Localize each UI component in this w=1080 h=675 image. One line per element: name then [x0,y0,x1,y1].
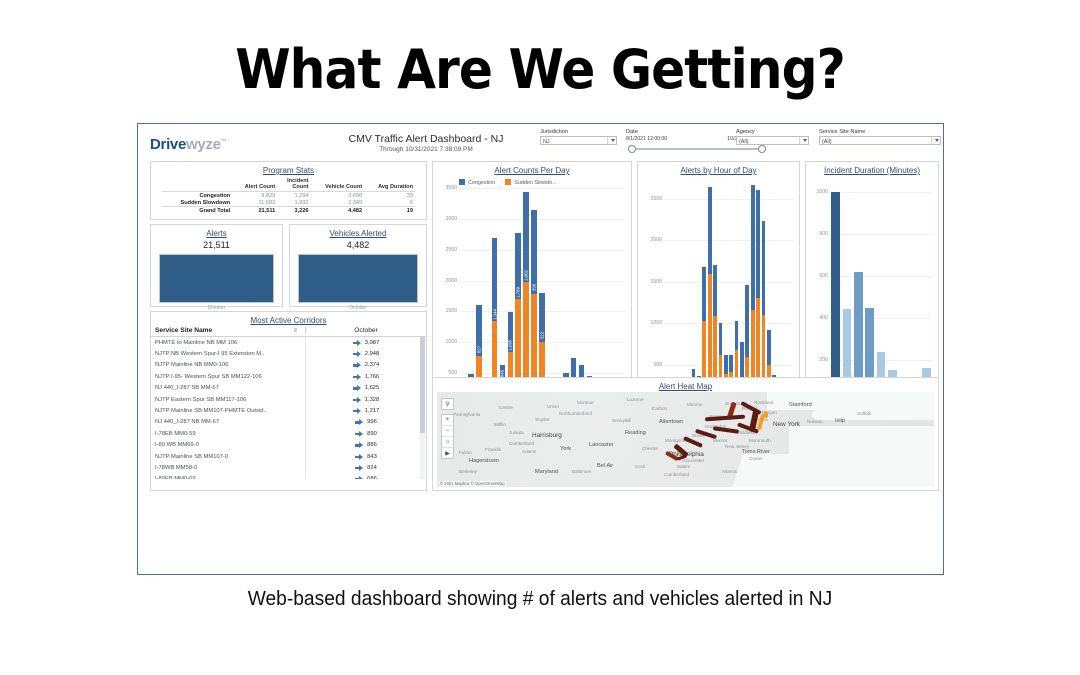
corridor-value-text: 2,948 [365,351,380,357]
filter-jurisdiction[interactable]: Jurisdiction NJ [540,129,617,145]
map-search-control[interactable]: ⚲ [441,398,454,410]
corridors-header: Service Site Name ≡ October [151,325,426,337]
corridor-value-text: 686 [367,476,377,479]
alerts-kpi-title: Alerts [151,225,282,238]
table-row: Sudden Slowdown 11,682 1,932 3,349 6 [162,199,415,207]
arrow-right-icon [353,385,362,391]
list-item[interactable]: NJ 440_I-287 NB MM-67996 [151,417,426,428]
y-axis-tick: 800 [819,231,828,237]
corridor-value: 686 [305,474,426,479]
bar-label: 396 [532,283,537,290]
map-label: Juniata [509,430,524,435]
bar-segment-congestion [531,210,537,294]
table-row: Congestion 9,829 1,294 3,690 33 [162,192,415,200]
duration-chart-title: Incident Duration (Minutes) [806,162,938,175]
bar-group[interactable] [788,182,793,406]
map-label: Cecil [635,464,645,469]
row-congestion-alert: 9,829 [232,192,277,200]
map-water-sound [812,410,934,420]
slider-knob-left[interactable] [628,145,636,153]
bar-label: 1,344 [492,309,497,320]
bar-segment-congestion [523,192,529,282]
corridors-title: Most Active Corridors [151,312,426,325]
panel-vehicles-kpi: Vehicles Alerted 4,482 October [289,224,427,307]
legend-congestion: Congestion [459,179,495,186]
bar-label: 845 [500,370,505,377]
chevron-down-icon [935,139,939,142]
map-label: Monroe [687,402,703,407]
dashboard-inner: Drivewyze™ CMV Traffic Alert Dashboard -… [141,127,940,571]
map-zoom-controls[interactable]: + − ⌂ ▶ [441,414,454,459]
arrow-right-icon [355,465,364,471]
map-canvas[interactable]: PennsylvaniaCentreUnionMontourNorthumber… [437,392,934,487]
list-item[interactable]: NJ 440_I-287 SB MM-671,625 [151,383,426,394]
bar-group[interactable] [830,182,841,402]
daily-chart-legend: Congestion Sudden Slowdo... [459,179,557,186]
logo-drive: Drive [150,136,186,153]
bar-group[interactable]: 1,344647 [491,188,499,404]
slider-track [631,148,763,150]
bar-group[interactable] [617,188,625,404]
search-icon[interactable]: ⚲ [442,399,453,409]
vehicles-kpi-bar[interactable] [298,254,418,303]
list-item[interactable]: I-78EB MM0-59890 [151,428,426,439]
bar-segment-congestion [756,190,760,298]
corridors-col-name[interactable]: Service Site Name ≡ [151,327,305,334]
slide: What Are We Getting? Drivewyze™ CMV Traf… [0,0,1080,675]
map-label: Maryland [535,469,558,475]
corridor-value: 1,217 [305,405,426,416]
map-label: Allentown [659,419,683,425]
bar-group[interactable]: 1,6981,458 [506,188,514,404]
bar-group[interactable] [562,188,570,404]
map-attribution: © 2021 Mapbox © OpenStreetMap [439,481,506,486]
bar-group[interactable] [459,188,467,404]
map-label: Adams [522,449,536,454]
filter-agency-label: Agency [736,129,809,135]
map-label: Nassau [807,419,823,424]
bar-group[interactable]: 354 [467,188,475,404]
row-congestion-duration: 33 [364,192,415,200]
list-item[interactable]: I-78WB MM58-0824 [151,462,426,473]
alerts-kpi-bar[interactable] [159,254,274,303]
map-label: Centre [499,405,513,410]
bar-label: 1,789 [516,287,521,298]
col-blank [162,178,232,192]
row-total-vehicle: 4,482 [311,207,365,215]
corridor-value: 2,948 [305,348,426,359]
filter-agency-select[interactable]: (All) [736,136,809,145]
scrollbar-thumb[interactable] [420,337,425,433]
bars: 3548271,3531,3446478451,0801,6981,4581,7… [459,188,625,404]
bar-group[interactable] [875,182,886,402]
map-label: Harrisburg [532,432,562,439]
map-label: Cumberland [664,472,689,477]
corridor-value-text: 886 [367,442,377,448]
bar-group[interactable] [483,188,491,404]
corridors-scrollbar[interactable] [420,337,425,479]
plot-area: 3548271,3531,3446478451,0801,6981,4581,7… [459,188,625,404]
bar-group[interactable] [586,188,594,404]
corridor-value-text: 3,087 [365,340,380,346]
bar-group[interactable] [909,182,920,402]
corridor-value-text: 996 [367,419,377,425]
hour-chart-title: Alerts by Hour of Day [638,162,799,175]
corridor-value: 2,374 [305,360,426,371]
filter-date-start: 8/1/2021 12:00:00 [626,136,667,143]
map-label: Berkeley [459,469,477,474]
corridor-name: NJTP Mainline SB MM107-0 [151,454,305,460]
bar-group[interactable] [864,182,875,402]
map-label: Gloucester [682,458,704,463]
corridor-value-text: 2,374 [365,362,380,368]
corridor-value-text: 843 [367,454,377,460]
map-label: Ocean [749,456,763,461]
map-label: Lancaster [589,442,614,448]
bar-group[interactable]: 1,002352 [522,188,530,404]
daily-chart-title: Alert Counts Per Day [433,162,631,175]
bar-group[interactable] [554,188,562,404]
map-label: Reading [625,430,646,436]
map-label: Toms River [742,449,770,455]
corridors-rows: PHMTE to Mainline NB MM 1063,087NJTP NB … [151,337,426,479]
filter-site-select[interactable]: (All) [819,136,941,145]
col-avg-duration: Avg Duration [364,178,415,192]
row-slowdown-name: Sudden Slowdown [162,199,232,207]
slider-knob-right[interactable] [758,145,766,153]
map-label: Suffolk [857,411,871,416]
map-label: New York [773,421,800,428]
corridor-value-text: 1,625 [365,385,380,391]
map-water-shore [731,454,803,487]
bar-group[interactable] [609,188,617,404]
map-label: Monmouth [749,438,771,443]
panel-alert-heat-map: Alert Heat Map PennsylvaniaCentreUnionMo… [432,377,939,491]
map-label: Schuylkill [612,418,631,423]
legend-label-congestion: Congestion [468,180,495,186]
bars [830,182,932,402]
corridor-value: 890 [305,428,426,439]
y-axis-tick: 200 [819,357,828,363]
y-axis-tick: 2500 [650,196,662,202]
arrow-right-icon [353,351,362,357]
table-header-row: Alert Count Incident Count Vehicle Count… [162,178,415,192]
row-congestion-vehicle: 3,690 [311,192,365,200]
dashboard-header: Drivewyze™ CMV Traffic Alert Dashboard -… [141,127,940,157]
map-label: Luzerne [627,397,644,402]
map-label: Snyder [535,417,550,422]
y-axis-tick: 2000 [650,237,662,243]
dashboard-subtitle: Through 10/31/2021 7:38:09 PM [301,146,551,153]
legend-slowdown: Sudden Slowdo... [505,179,556,186]
bar-group[interactable]: 396294 [530,188,538,404]
bar [831,192,840,402]
corridor-value: 843 [305,451,426,462]
col-alert-count: Alert Count [232,178,277,192]
y-axis-tick: 1000 [650,320,662,326]
corridor-name: I-80 WB MM69-0 [151,442,305,448]
bar-segment-congestion [708,187,712,274]
map-label: Franklin [485,447,501,452]
corridor-name: NJTP NB Western Spur-I 95 Extension M.. [151,351,305,357]
bar-segment-congestion [740,342,744,378]
bar-segment-congestion [724,355,728,375]
corridor-value-text: 824 [367,465,377,471]
arrow-right-icon [353,340,362,346]
arrow-right-icon [355,431,364,437]
legend-swatch-congestion [459,179,465,185]
y-axis-tick: 1000 [816,189,828,195]
corridor-value-text: 890 [367,431,377,437]
corridor-value: 1,625 [305,383,426,394]
corridor-name: NJ 440_I-287 SB MM-67 [151,385,305,391]
arrow-right-icon [355,476,364,479]
row-congestion-incident: 1,294 [277,192,310,200]
filter-jurisdiction-value: NJ [543,139,550,145]
map-label: Northumberland [559,411,592,416]
row-slowdown-duration: 6 [364,199,415,207]
y-axis-tick: 3000 [445,216,457,222]
corridors-col-value[interactable]: October [305,327,426,334]
panel-alerts-kpi: Alerts 21,511 October [150,224,283,307]
plot-area [664,182,793,406]
bar-group[interactable] [921,182,932,402]
corridor-name: NJTP I-95- Western Spur SB MM122-106 [151,374,305,380]
filter-service-site-name[interactable]: Service Site Name (All) [819,129,941,145]
bar-group[interactable]: 8451,080 [499,188,507,404]
y-axis-tick: 2000 [445,278,457,284]
sort-icon[interactable]: ≡ [293,328,297,334]
bar-group[interactable] [570,188,578,404]
row-total-incident: 3,226 [277,207,310,215]
bar-group[interactable] [578,188,586,404]
y-axis-tick: 600 [819,273,828,279]
bar-group[interactable] [887,182,898,402]
list-item[interactable]: NJTP Eastern Spur SB MM117-1061,328 [151,394,426,405]
list-item[interactable]: NJTP I-95- Western Spur SB MM122-1061,76… [151,371,426,382]
vehicles-kpi-title: Vehicles Alerted [290,225,426,238]
corridor-name: I-80EB MM0-69 [151,476,305,479]
bar-label: 1,698 [508,340,513,351]
corridor-value: 3,087 [305,337,426,348]
pan-icon[interactable]: ▶ [442,448,453,458]
row-total-alert: 21,511 [232,207,277,215]
slide-title: What Are We Getting? [38,38,1042,101]
filter-site-label: Service Site Name [819,129,941,135]
corridor-name: PHMTE to Mainline NB MM 106 [151,340,305,346]
row-total-name: Grand Total [162,207,232,215]
col-incident-line2: Count [279,184,308,190]
y-axis-tick: 1000 [445,339,457,345]
row-congestion-name: Congestion [162,192,232,200]
map-label: Fulton [459,450,472,455]
plot-area [830,182,932,402]
map-label: Carbon [652,406,667,411]
filter-agency-value: (All) [739,139,749,145]
list-item[interactable]: NJTP Mainline SB MM107-0843 [151,451,426,462]
corridor-value: 996 [305,417,426,428]
y-axis-tick: 1500 [650,279,662,285]
row-slowdown-alert: 11,682 [232,199,277,207]
arrow-right-icon [353,397,362,403]
alerts-kpi-value: 21,511 [151,240,282,250]
map-label: Islip [835,418,845,424]
bars [664,182,793,406]
y-axis-tick: 500 [653,362,662,368]
list-item[interactable]: NJTP NB Western Spur-I 95 Extension M..2… [151,348,426,359]
map-label: Cumberland [509,441,534,446]
arrow-right-icon [355,419,364,425]
map-label: Montour [577,400,594,405]
corridor-value-text: 1,217 [365,408,380,414]
chevron-down-icon [803,139,807,142]
zoom-out-icon[interactable]: − [442,426,453,437]
arrow-right-icon [353,408,362,414]
logo-wyze: wyze [186,136,221,153]
bar-segment-congestion [745,285,749,357]
col-vehicle-count: Vehicle Count [311,178,365,192]
dashboard-frame: Drivewyze™ CMV Traffic Alert Dashboard -… [137,123,944,575]
map-label: Baltimore [572,469,591,474]
corridor-name: NJTP Mainline SB MM107-PHMTE Outsid.. [151,408,305,414]
filter-agency[interactable]: Agency (All) [736,129,809,145]
corridors-body[interactable]: PHMTE to Mainline NB MM 1063,087NJTP NB … [151,337,426,479]
bar-group[interactable] [601,188,609,404]
program-stats-table: Alert Count Incident Count Vehicle Count… [162,178,415,215]
arrow-right-icon [355,454,364,460]
bar-group[interactable]: 1,7891,798 [514,188,522,404]
filter-jurisdiction-select[interactable]: NJ [540,136,617,145]
map-label: Chester [642,446,658,451]
bar-group[interactable] [593,188,601,404]
y-axis-tick: 500 [448,370,457,376]
logo-tm: ™ [221,139,227,145]
vehicles-kpi-value: 4,482 [290,240,426,250]
corridor-name: NJ 440_I-287 NB MM-67 [151,419,305,425]
bar-segment-congestion [719,323,723,355]
map-label: Salem [677,464,690,469]
legend-label-slowdown: Sudden Slowdo... [514,180,556,186]
bar-segment-congestion [702,267,706,320]
list-item[interactable]: NJTP Mainline SB MM107-PHMTE Outsid..1,2… [151,405,426,416]
corridor-value-text: 1,328 [365,397,380,403]
corridor-name: I-78WB MM58-0 [151,465,305,471]
legend-swatch-slowdown [505,179,511,185]
corridor-value: 1,328 [305,394,426,405]
dashboard-title: CMV Traffic Alert Dashboard - NJ [301,133,551,145]
row-slowdown-incident: 1,932 [277,199,310,207]
bar-group[interactable]: 8271,353 [475,188,483,404]
bar-segment-congestion [729,355,733,372]
map-label: Stamford [789,402,812,408]
heat-segment-hot [764,411,768,418]
filter-bar: Jurisdiction NJ Date 8/1/2021 12:00:00 1… [540,129,944,159]
map-label: Rockland [754,400,773,405]
y-axis-tick: 3500 [445,185,457,191]
bar-group[interactable] [853,182,864,402]
bar-label: 827 [476,346,481,353]
arrow-right-icon [353,374,362,380]
slide-caption: Web-based dashboard showing # of alerts … [22,588,1059,611]
list-item[interactable]: I-80EB MM0-69686 [151,474,426,479]
bar-group[interactable] [841,182,852,402]
map-label: Atlantic [722,469,737,474]
corridor-name: NJTP Mainline NB MM0-106 [151,362,305,368]
bar-segment-congestion [751,185,755,310]
bar-segment-congestion [762,221,766,315]
filter-site-value: (All) [822,139,832,145]
panel-most-active-corridors: Most Active Corridors Service Site Name … [150,311,427,491]
map-label: Union [547,404,559,409]
corridor-value: 886 [305,440,426,451]
corridor-name: I-78EB MM0-59 [151,431,305,437]
map-label: Mifflin [494,422,506,427]
zoom-in-icon[interactable]: + [442,415,453,426]
map-label: Pennsylvania [453,412,480,417]
panel-program-stats: Program Stats Alert Count Incident Count… [150,161,427,220]
row-slowdown-vehicle: 3,349 [311,199,365,207]
col-incident-count: Incident Count [277,178,310,192]
table-row-total: Grand Total 21,511 3,226 4,482 19 [162,207,415,215]
y-axis-tick: 400 [819,315,828,321]
y-axis-tick: 2500 [445,247,457,253]
bar-segment-congestion [767,330,771,366]
list-item[interactable]: NJTP Mainline NB MM0-1062,374 [151,360,426,371]
program-stats-title: Program Stats [151,162,426,175]
list-item[interactable]: PHMTE to Mainline NB MM 1063,087 [151,337,426,348]
map-title: Alert Heat Map [433,378,938,391]
corridors-col-name-label: Service Site Name [155,327,212,334]
bar-label: 322 [540,332,545,339]
bar-group[interactable] [546,188,554,404]
chevron-down-icon [611,139,615,142]
corridor-name: NJTP Eastern Spur SB MM117-106 [151,397,305,403]
bar-group[interactable] [898,182,909,402]
arrow-right-icon [355,442,364,448]
map-label: York [560,446,571,452]
map-water-atlantic [789,426,934,487]
arrow-right-icon [353,362,362,368]
bar-segment-congestion [713,265,717,316]
y-axis-tick: 1500 [445,308,457,314]
map-label: Bel Air [597,463,613,469]
corridor-value: 824 [305,462,426,473]
corridor-value-text: 1,766 [365,374,380,380]
filter-jurisdiction-label: Jurisdiction [540,129,617,135]
home-icon[interactable]: ⌂ [442,437,453,448]
map-label: Hagerstown [469,458,499,464]
bar-group[interactable]: 322 [538,188,546,404]
bar-label: 1,002 [524,270,529,281]
corridor-value: 1,766 [305,371,426,382]
drivewyze-logo: Drivewyze™ [150,136,226,153]
row-total-duration: 19 [364,207,415,215]
bar-segment-congestion [735,321,739,349]
list-item[interactable]: I-80 WB MM69-0886 [151,440,426,451]
